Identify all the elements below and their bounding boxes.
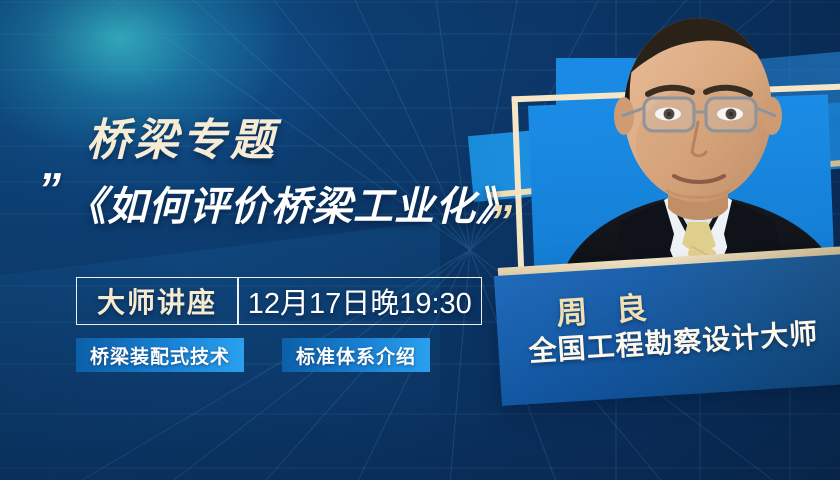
lecture-datetime: 12月17日晚19:30	[239, 278, 482, 324]
lecture-label: 大师讲座	[77, 278, 237, 324]
page-subtitle: 《如何评价桥梁工业化》	[66, 174, 517, 232]
speaker-nameplate: 周 良 全国工程勘察设计大师	[494, 252, 840, 406]
quote-close-mark: ”	[489, 198, 512, 244]
lecture-info-bar: 大师讲座 12月17日晚19:30	[76, 277, 482, 325]
tag-chip: 桥梁装配式技术	[76, 338, 244, 372]
tag-chip-list: 桥梁装配式技术 标准体系介绍	[76, 338, 430, 372]
tag-chip: 标准体系介绍	[282, 338, 430, 372]
page-title: 桥梁专题	[86, 104, 278, 168]
quote-open-mark: ”	[38, 166, 61, 212]
promo-poster: 周 良 全国工程勘察设计大师 桥梁专题 ” 《如何评价桥梁工业化》 ” 大师讲座…	[0, 0, 840, 480]
